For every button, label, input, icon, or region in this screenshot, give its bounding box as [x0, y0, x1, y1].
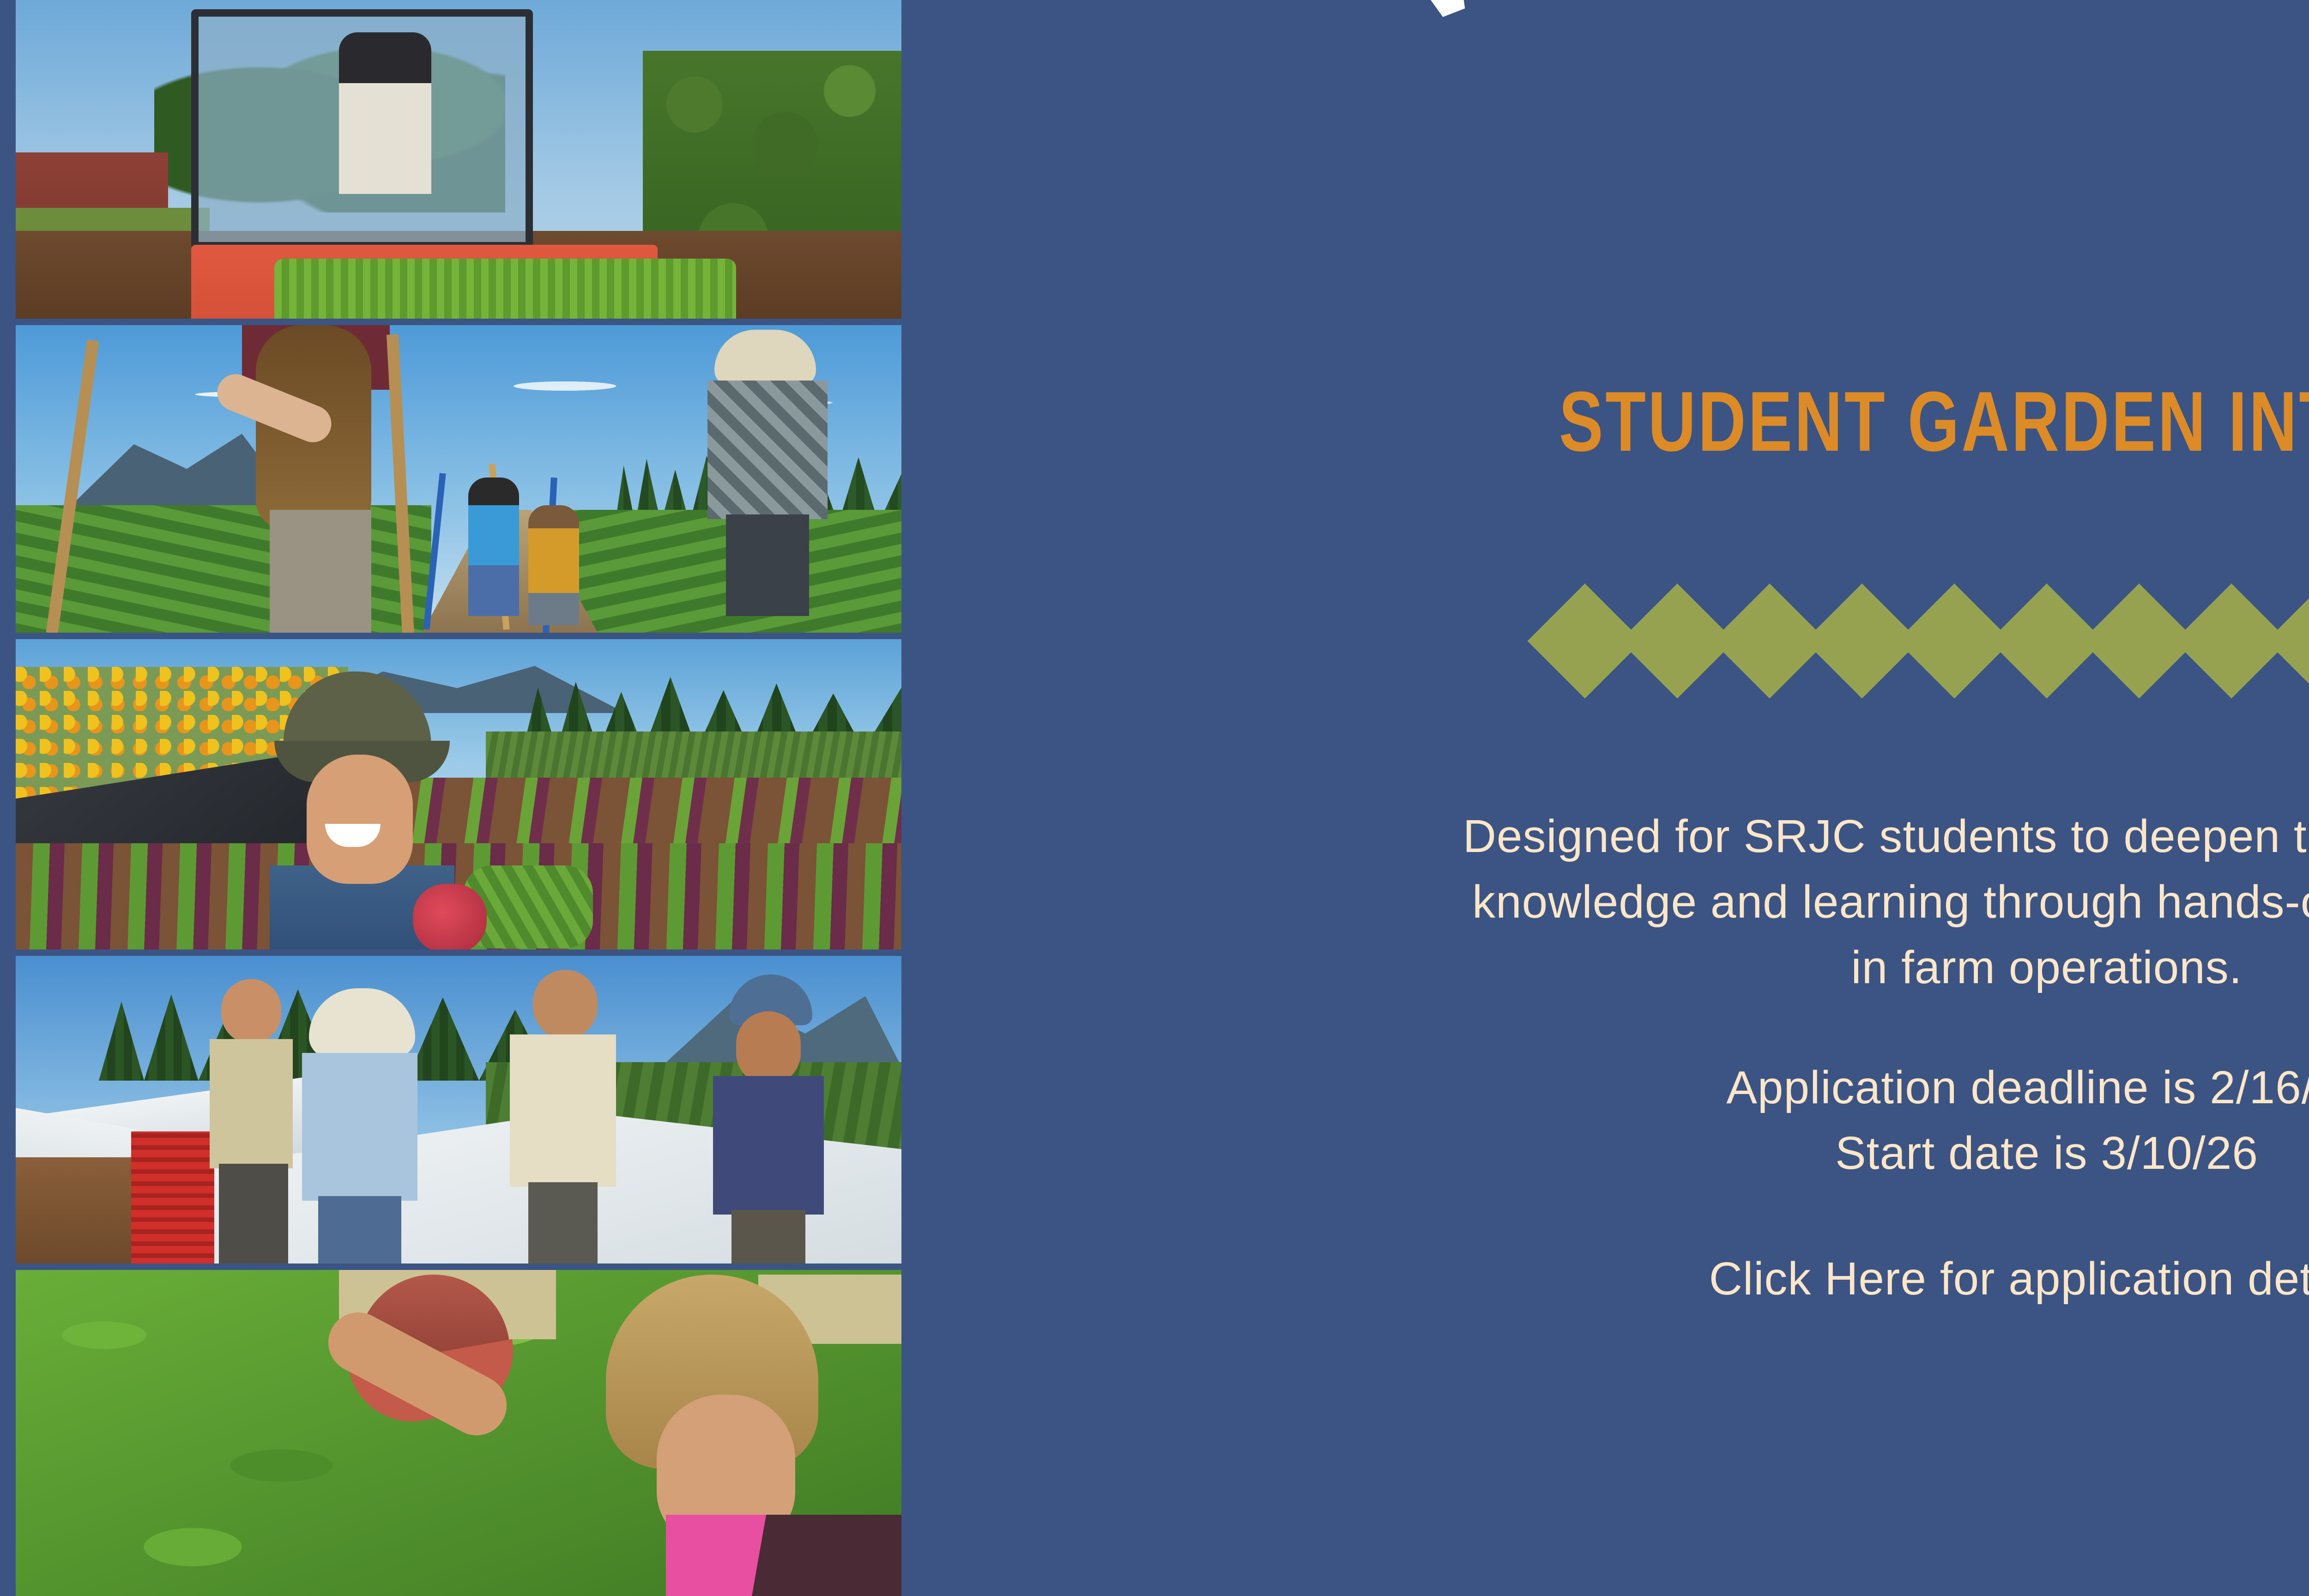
headline-area: WE ARE HIRING!	[901, 0, 2309, 360]
tractor-driver	[339, 32, 431, 194]
student-gold-shirt	[528, 505, 579, 625]
photo-collage	[0, 0, 901, 1596]
photo-row-cover-harvest	[16, 956, 901, 1263]
diamond-icon	[2267, 584, 2309, 699]
legs	[731, 1210, 805, 1263]
application-details-link[interactable]: Click Here for application details	[901, 1246, 2309, 1312]
navy-shirt	[713, 1076, 824, 1215]
light-blue-shirt	[302, 1053, 417, 1201]
arched-headline-svg: WE ARE HIRING!	[994, 5, 2309, 383]
khaki-pants	[270, 510, 371, 633]
person-plaid-shirt	[698, 330, 837, 616]
person-red-cap	[339, 1270, 556, 1478]
hiring-banner: WE ARE HIRING! STUDENT GARDEN INTERNS De…	[0, 0, 2309, 1596]
photo-5-artwork	[16, 1270, 901, 1596]
description-line-3: in farm operations.	[901, 935, 2309, 1000]
face	[307, 755, 413, 884]
start-date: Start date is 3/10/26	[901, 1120, 2309, 1186]
foreground-student	[214, 325, 408, 633]
photo-broadfork-crew	[16, 325, 901, 633]
application-deadline: Application deadline is 2/16/26	[901, 1055, 2309, 1120]
photo-tractor-and-seedlings	[16, 0, 901, 319]
subtitle: STUDENT GARDEN INTERNS	[1154, 379, 2309, 464]
person-white-hat	[293, 988, 422, 1263]
legs	[219, 1164, 288, 1263]
person-holding-beets	[265, 671, 551, 949]
head	[533, 970, 598, 1039]
photo-4-artwork	[16, 956, 901, 1263]
background-students	[468, 478, 588, 630]
student-blue-jacket	[468, 478, 519, 616]
head	[221, 979, 281, 1044]
beet-root	[413, 884, 487, 949]
seedling-flat	[274, 259, 736, 319]
body-copy: Designed for SRJC students to deepen the…	[901, 804, 2309, 1312]
diamond-divider	[901, 572, 2309, 710]
head	[736, 1011, 801, 1085]
photo-2-artwork	[16, 325, 901, 633]
legs	[726, 514, 809, 616]
photo-bean-picking	[16, 1270, 901, 1596]
person-navy-shirt	[708, 974, 828, 1263]
person-blonde-hair	[550, 1275, 901, 1596]
photo-beet-harvest	[16, 639, 901, 949]
person-cream-longsleeve	[505, 970, 621, 1263]
jeans	[318, 1196, 401, 1263]
cream-longsleeve	[510, 1034, 616, 1187]
headline-text: WE ARE HIRING!	[1374, 0, 2309, 55]
photo-1-artwork	[16, 0, 901, 319]
sun-hat	[714, 330, 816, 385]
description-line-1: Designed for SRJC students to deepen the…	[901, 804, 2309, 869]
tan-shirt	[210, 1039, 293, 1168]
person-tan-shirt	[200, 979, 302, 1263]
legs	[528, 1182, 598, 1263]
photo-3-artwork	[16, 639, 901, 949]
description-line-2: knowledge and learning through hands-on …	[901, 869, 2309, 935]
headline-textpath: WE ARE HIRING!	[1374, 0, 2309, 55]
plaid-shirt	[707, 381, 828, 519]
content-panel: WE ARE HIRING! STUDENT GARDEN INTERNS De…	[901, 0, 2309, 1596]
wide-brim-hat	[309, 988, 415, 1058]
pink-tank-top	[666, 1515, 901, 1596]
